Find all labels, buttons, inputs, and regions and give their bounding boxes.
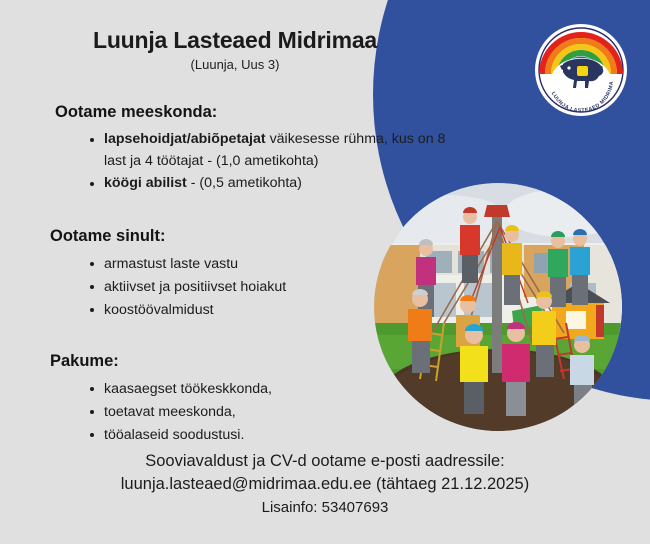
job-poster: LUUNJA LASTEAED MIDRIMAA (0, 0, 650, 544)
list-item-text: - (0,5 ametikohta) (187, 175, 302, 191)
list-item: köögi abilist - (0,5 ametikohta) (90, 173, 470, 195)
list-item: lapsehoidjat/abiõpetajat väikesesse rühm… (90, 129, 470, 172)
contact-footer: Sooviavaldust ja CV-d ootame e-posti aad… (0, 450, 650, 518)
page-title: Luunja Lasteaed Midrimaa (0, 27, 470, 53)
kindergarten-logo: LUUNJA LASTEAED MIDRIMAA (533, 22, 629, 118)
poster-header: Luunja Lasteaed Midrimaa (Luunja, Uus 3) (0, 27, 470, 73)
bullet-list: lapsehoidjat/abiõpetajat väikesesse rühm… (0, 129, 470, 195)
footer-line-phone: Lisainfo: 53407693 (0, 497, 650, 518)
section-ootame-meeskonda: Ootame meeskonda: lapsehoidjat/abiõpetaj… (0, 103, 470, 195)
footer-line-intro: Sooviavaldust ja CV-d ootame e-posti aad… (0, 450, 650, 473)
section-heading: Ootame meeskonda: (0, 103, 470, 122)
list-item-bold: köögi abilist (104, 175, 187, 191)
staff-group-photo (374, 183, 622, 431)
list-item: toetavat meeskonda, (90, 401, 470, 423)
footer-line-email[interactable]: luunja.lasteaed@midrimaa.edu.ee (tähtaeg… (0, 473, 650, 496)
list-item-bold: lapsehoidjat/abiõpetajat (104, 131, 266, 147)
page-subtitle: (Luunja, Uus 3) (0, 57, 470, 73)
bullet-list: kaasaegset töökeskkonda, toetavat meesko… (0, 378, 470, 446)
list-item: tööalaseid soodustusi. (90, 424, 470, 446)
